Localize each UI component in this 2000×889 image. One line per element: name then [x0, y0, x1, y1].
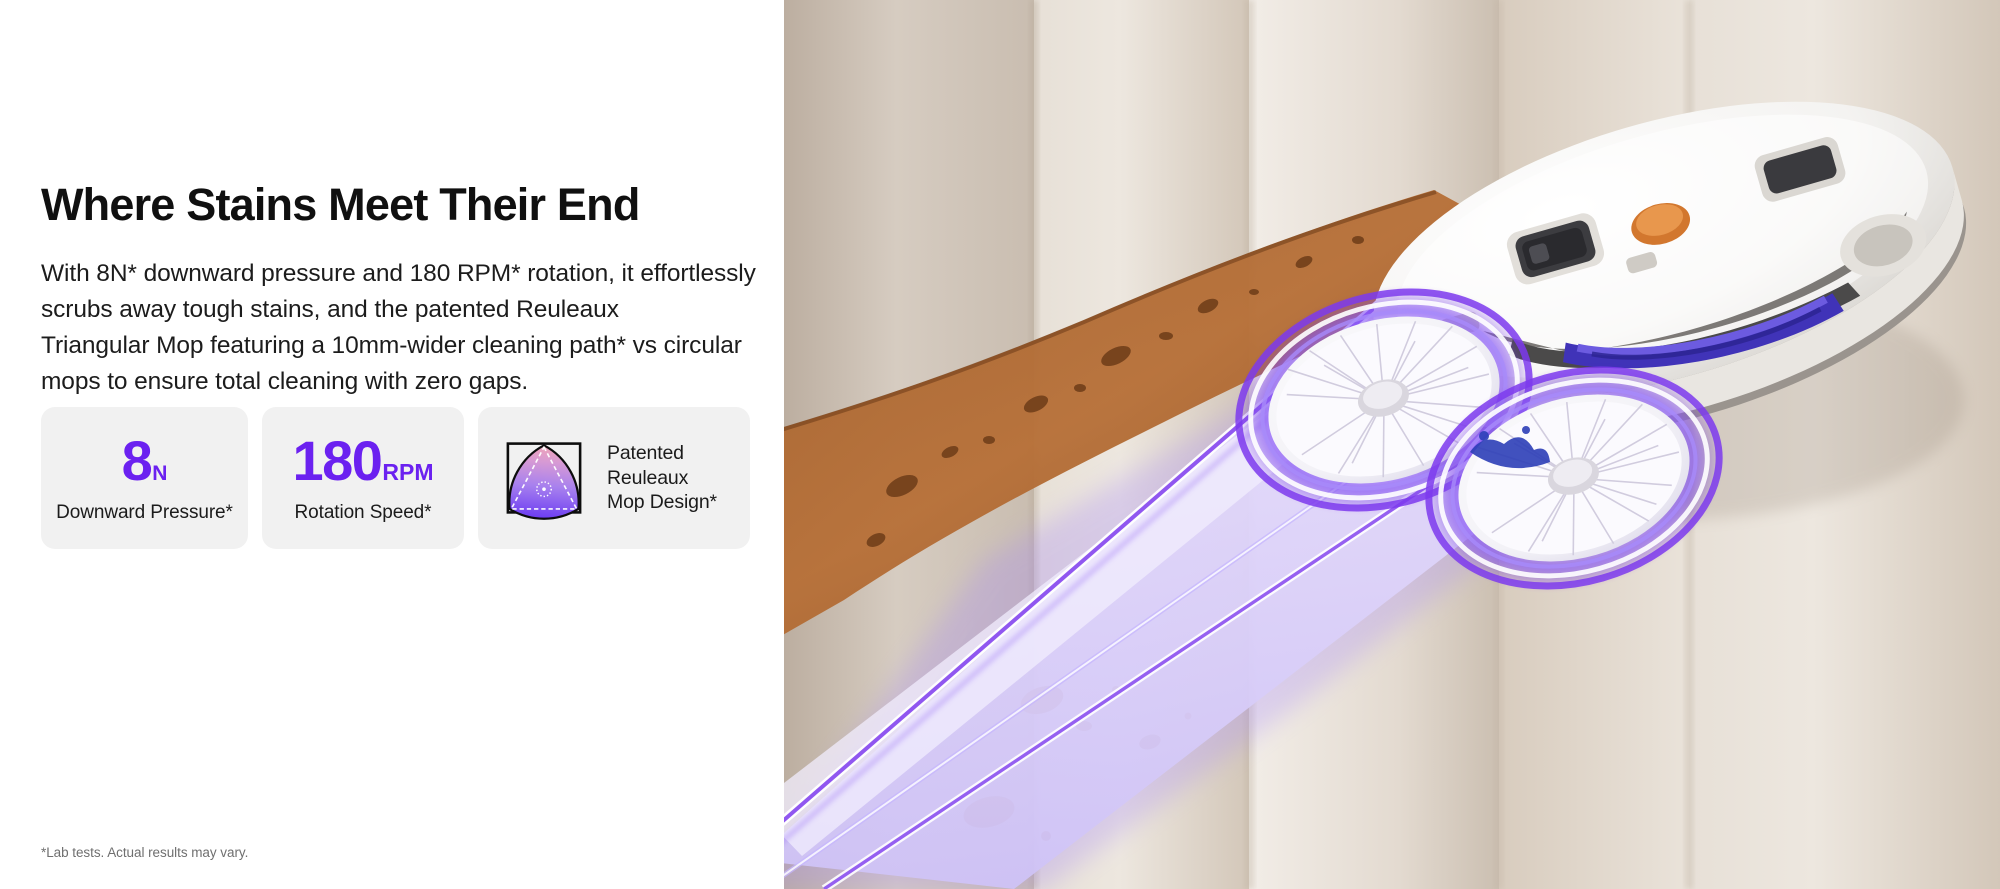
body-paragraph: With 8N* downward pressure and 180 RPM* … [41, 256, 761, 399]
rotation-unit: RPM [382, 461, 433, 484]
copy-block: Where Stains Meet Their End With 8N* dow… [41, 180, 761, 399]
pressure-unit: N [152, 463, 167, 484]
rotation-value: 180 [292, 433, 381, 489]
marketing-feature-page: Where Stains Meet Their End With 8N* dow… [0, 0, 2000, 889]
rotation-metric: 180 RPM [292, 433, 433, 489]
stat-card-list: 8 N Downward Pressure* 180 RPM Rotation … [41, 407, 750, 549]
pressure-label: Downward Pressure* [56, 502, 233, 524]
reuleaux-triangle-icon [501, 435, 587, 521]
pressure-value: 8 [122, 433, 152, 489]
mop-design-line-1: Patented [607, 441, 717, 466]
product-photo [784, 0, 2000, 889]
product-photo-illustration [784, 0, 2000, 889]
body-line-1: With 8N* downward pressure and 180 RPM* … [41, 256, 761, 292]
body-line-2: scrubs away tough stains, and the patent… [41, 292, 761, 328]
text-panel: Where Stains Meet Their End With 8N* dow… [0, 0, 784, 889]
body-line-3: Triangular Mop featuring a 10mm-wider cl… [41, 328, 761, 364]
stat-card-rotation-speed: 180 RPM Rotation Speed* [262, 407, 464, 549]
footnote-disclaimer: *Lab tests. Actual results may vary. [41, 845, 248, 860]
body-line-4: mops to ensure total cleaning with zero … [41, 364, 761, 400]
stat-card-mop-design: Patented Reuleaux Mop Design* [478, 407, 750, 549]
stat-card-downward-pressure: 8 N Downward Pressure* [41, 407, 248, 549]
mop-design-line-3: Mop Design* [607, 490, 717, 515]
page-title: Where Stains Meet Their End [41, 180, 761, 230]
mop-design-label: Patented Reuleaux Mop Design* [607, 441, 717, 516]
pressure-metric: 8 N [122, 433, 168, 489]
rotation-label: Rotation Speed* [295, 502, 432, 524]
mop-design-line-2: Reuleaux [607, 466, 717, 491]
photo-scene [784, 0, 2000, 889]
